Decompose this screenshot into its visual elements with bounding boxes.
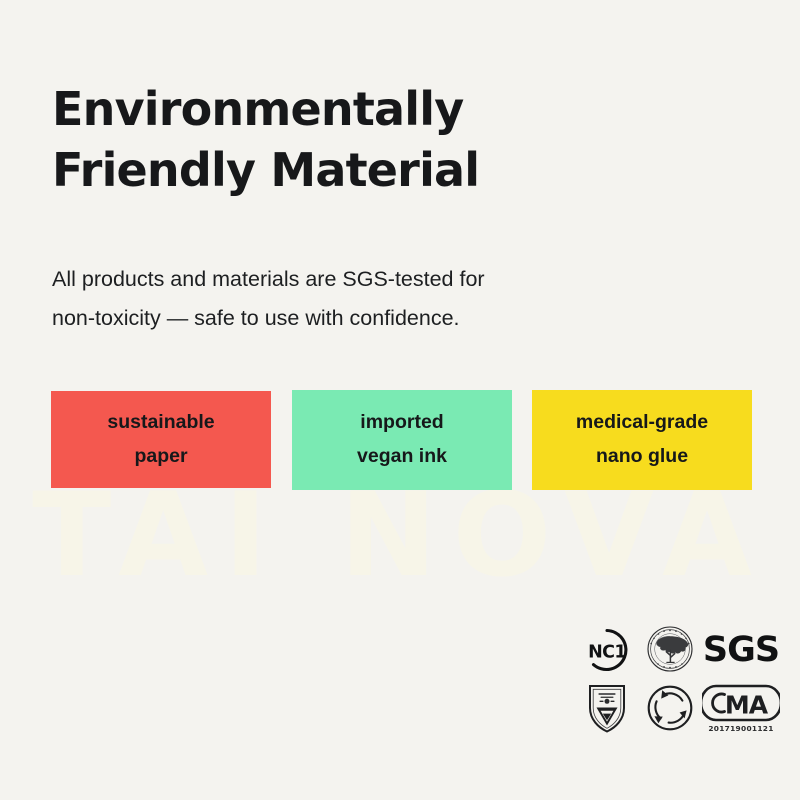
material-chip-group: sustainable paper imported vegan ink med… [51,390,755,490]
material-chip-sustainable-paper: sustainable paper [51,391,271,488]
page-subtitle: All products and materials are SGS-teste… [52,260,712,340]
page-subtitle-line-1: All products and materials are SGS-teste… [52,260,712,300]
svg-text:NC1: NC1 [588,643,626,663]
material-chip-label-line-2: nano glue [596,440,688,474]
certification-badge-group: NC1 [576,620,780,736]
forest-tree-certification-seal [638,622,702,676]
poster-canvas: TAI NOVA Environmentally Friendly Materi… [0,0,800,800]
material-chip-label-line-2: paper [134,440,187,474]
material-chip-label-line-2: vegan ink [357,440,447,474]
certification-badge-row-2: MA 201719001121 [576,680,780,736]
sgs-logo-text: SGS [703,633,779,668]
cma-accreditation-code: 201719001121 [708,725,773,732]
recycling-symbol-badge [638,680,702,736]
page-title-line-2: Friendly Material [52,140,752,202]
cma-certification-mark: MA 201719001121 [702,680,780,736]
brand-watermark: TAI NOVA [0,478,800,594]
material-chip-label-line-1: sustainable [107,406,214,440]
nc1-certification-badge: NC1 [576,624,638,676]
material-chip-imported-vegan-ink: imported vegan ink [292,390,512,490]
page-title: Environmentally Friendly Material [52,79,752,202]
sgs-certification-logo: SGS [702,624,780,676]
certification-badge-row-1: NC1 [576,620,780,676]
page-subtitle-line-2: non-toxicity — safe to use with confiden… [52,299,712,339]
material-chip-medical-grade-nano-glue: medical-grade nano glue [532,390,752,490]
svg-text:MA: MA [725,691,769,720]
cma-mark-glyph: MA [702,683,780,723]
shield-certification-badge [576,680,638,736]
page-title-line-1: Environmentally [52,79,752,141]
material-chip-label-line-1: medical-grade [576,406,708,440]
material-chip-label-line-1: imported [360,406,443,440]
